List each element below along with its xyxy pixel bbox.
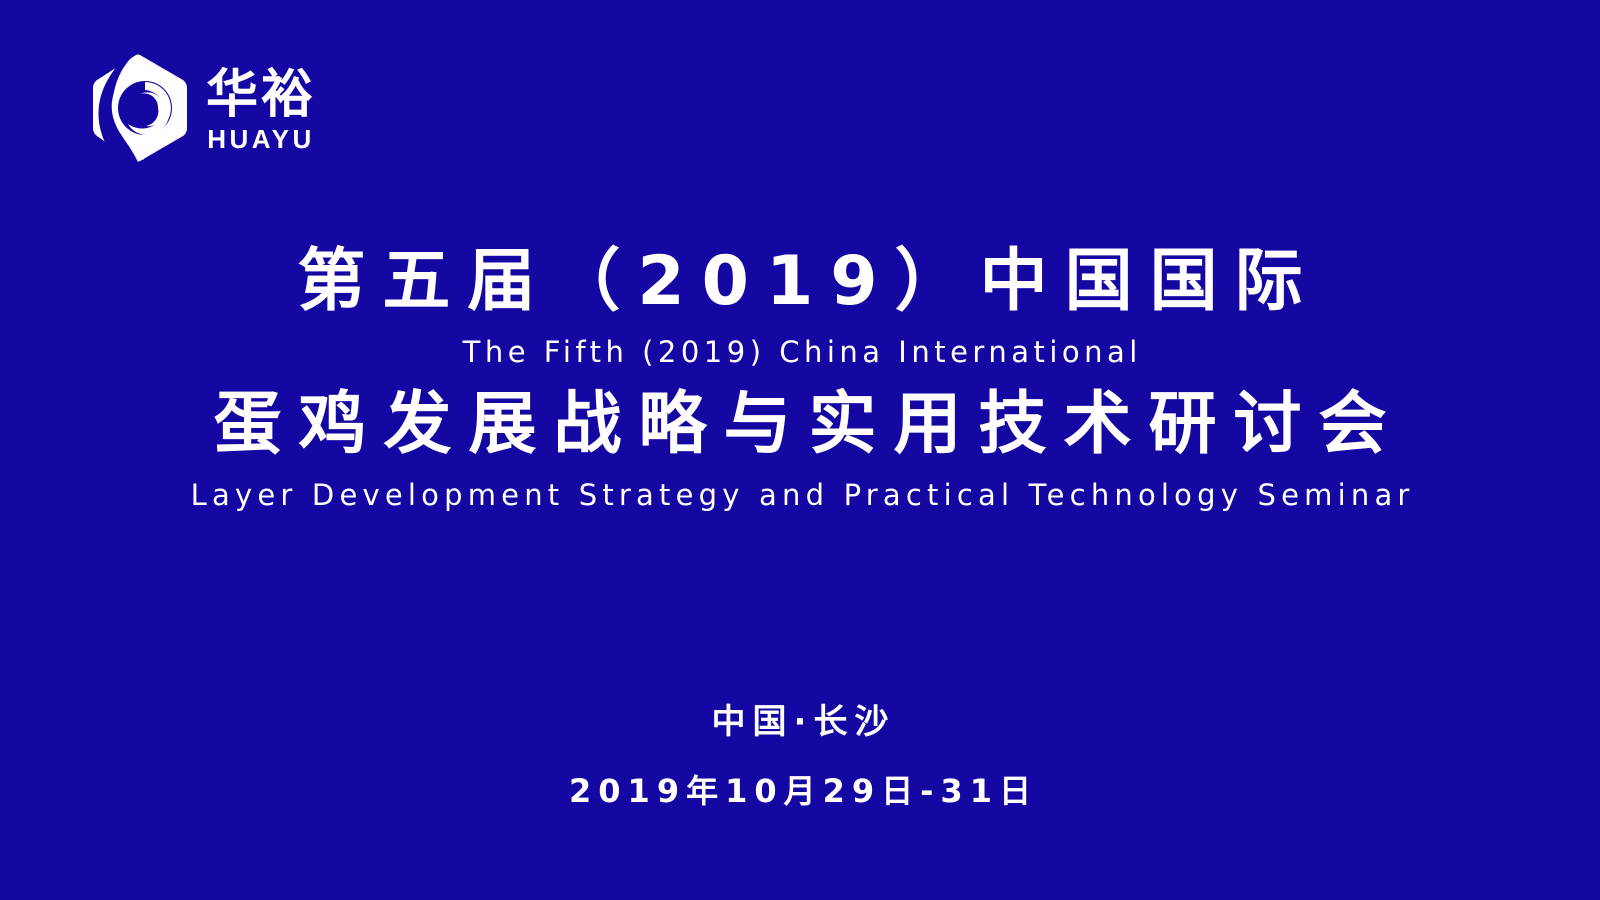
event-title-line1-english: The Fifth (2019) China International (0, 338, 1600, 367)
event-title-line1-chinese: 第五届（2019）中国国际 (0, 248, 1600, 316)
event-title-line2-chinese: 蛋鸡发展战略与实用技术研讨会 (0, 391, 1600, 459)
event-venue: 中国·长沙 (0, 705, 1600, 739)
logo-chinese-name: 华裕 (206, 69, 316, 121)
huayu-hexagon-swirl-logo-icon (88, 52, 192, 164)
event-title-line2-english: Layer Development Strategy and Practical… (0, 481, 1600, 510)
event-date: 2019年10月29日-31日 (0, 775, 1600, 807)
brand-logo: 华裕 HUAYU (88, 52, 316, 164)
event-title-block: 第五届（2019）中国国际 The Fifth (2019) China Int… (0, 248, 1600, 510)
logo-wordmark: 华裕 HUAYU (206, 69, 316, 152)
logo-english-name: HUAYU (207, 126, 315, 152)
event-footer-block: 中国·长沙 2019年10月29日-31日 (0, 705, 1600, 807)
